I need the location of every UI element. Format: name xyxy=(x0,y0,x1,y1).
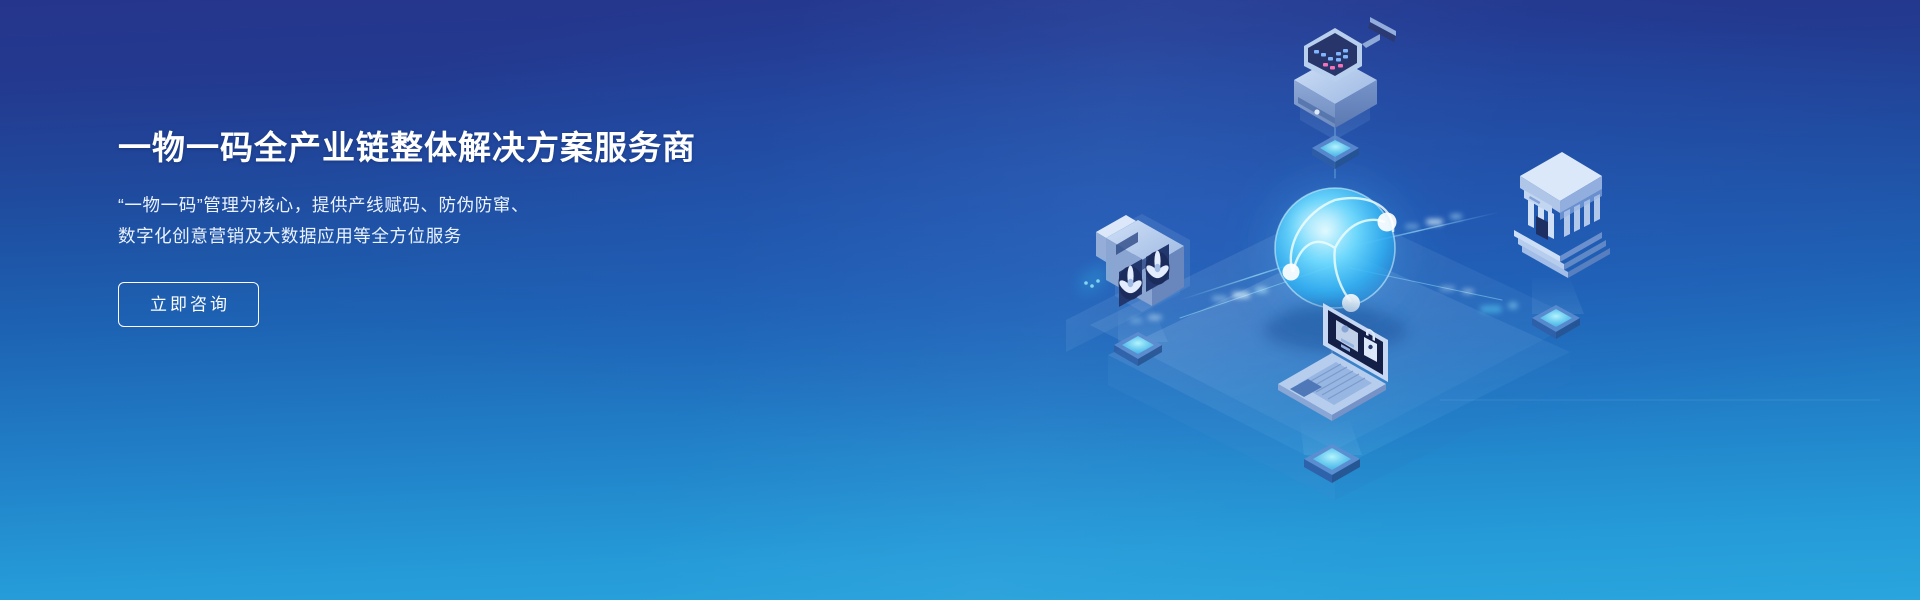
page-title: 一物一码全产业链整体解决方案服务商 xyxy=(118,128,818,168)
cash-register-icon xyxy=(1294,17,1396,169)
hero-banner: 一物一码全产业链整体解决方案服务商 “一物一码”管理为核心，提供产线赋码、防伪防… xyxy=(0,0,1920,600)
bank-icon xyxy=(1480,152,1610,339)
hero-illustration xyxy=(880,0,1920,600)
hero-subtitle-line-2: 数字化创意营销及大数据应用等全方位服务 xyxy=(118,221,818,252)
consult-now-button[interactable]: 立即咨询 xyxy=(118,282,259,327)
hero-copy: 一物一码全产业链整体解决方案服务商 “一物一码”管理为核心，提供产线赋码、防伪防… xyxy=(118,128,818,327)
hero-subtitle-line-1: “一物一码”管理为核心，提供产线赋码、防伪防窜、 xyxy=(118,190,818,221)
cta-wrapper: 立即咨询 xyxy=(118,282,818,327)
